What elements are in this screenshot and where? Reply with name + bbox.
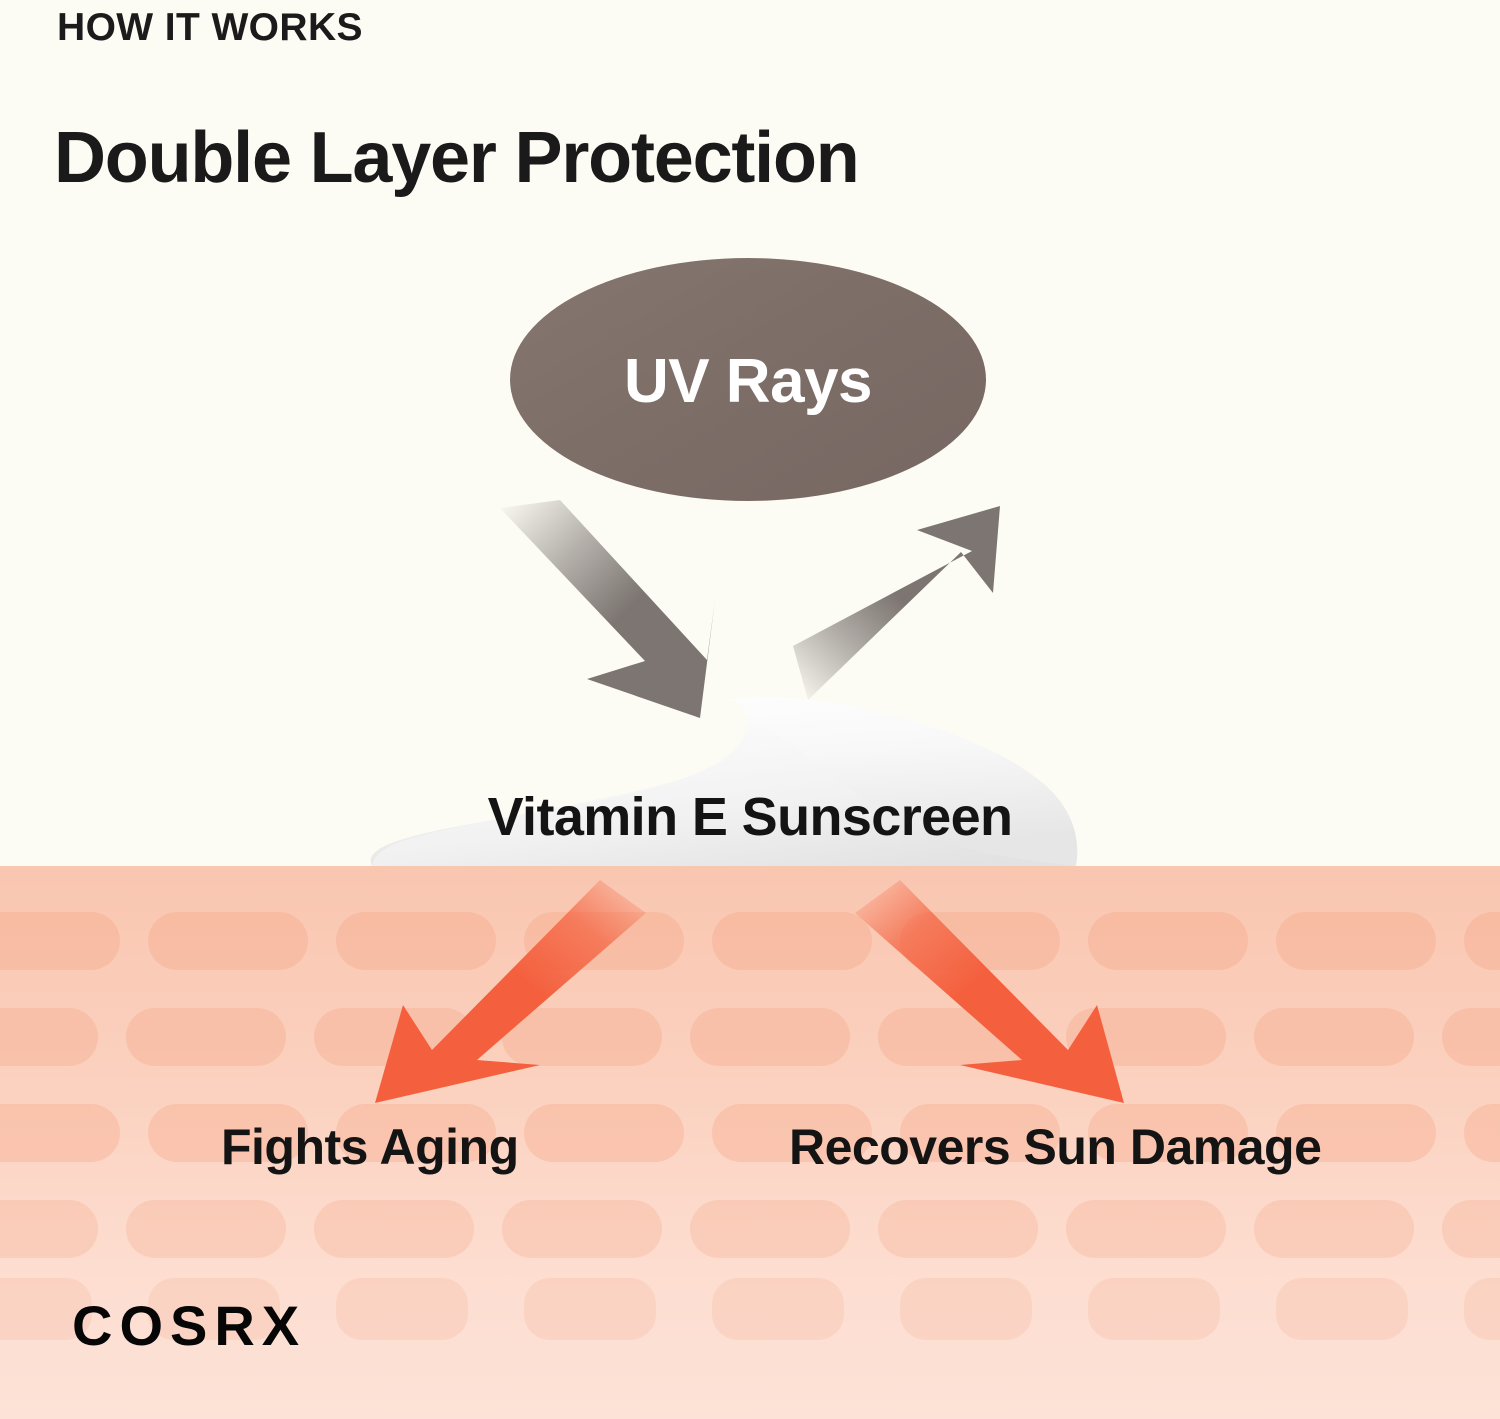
sunscreen-layer-label: Vitamin E Sunscreen: [0, 790, 1500, 844]
skin-cell: [0, 1104, 120, 1162]
skin-cell: [126, 1200, 286, 1258]
skin-cell: [878, 1008, 1038, 1066]
skin-cell: [1464, 1104, 1500, 1162]
skin-cell: [524, 1278, 656, 1340]
skin-cell: [126, 1008, 286, 1066]
eyebrow-label: HOW IT WORKS: [57, 8, 363, 49]
skin-cell: [900, 1278, 1032, 1340]
skin-cell: [314, 1008, 474, 1066]
skin-cell: [1254, 1008, 1414, 1066]
skin-cell: [0, 912, 120, 970]
skin-cell: [1088, 912, 1248, 970]
benefit-label-fights-aging: Fights Aging: [221, 1122, 519, 1172]
skin-cell: [314, 1200, 474, 1258]
skin-cell: [502, 1008, 662, 1066]
skin-cell: [690, 1200, 850, 1258]
brand-logo: COSRX: [72, 1298, 306, 1354]
skin-cell: [690, 1008, 850, 1066]
benefit-label-recovers-sun-damage: Recovers Sun Damage: [789, 1122, 1321, 1172]
skin-cell: [712, 1278, 844, 1340]
skin-cell: [1276, 1278, 1408, 1340]
skin-cell: [148, 912, 308, 970]
skin-cell: [1066, 1008, 1226, 1066]
skin-cell: [712, 912, 872, 970]
skin-cell: [1464, 1278, 1500, 1340]
skin-cell: [1442, 1008, 1500, 1066]
skin-cell: [0, 1008, 98, 1066]
skin-cell: [336, 1278, 468, 1340]
skin-cell: [1088, 1278, 1220, 1340]
skin-cell: [502, 1200, 662, 1258]
skin-cell: [1464, 912, 1500, 970]
skin-cell: [1254, 1200, 1414, 1258]
skin-cell: [900, 912, 1060, 970]
skin-cell: [1442, 1200, 1500, 1258]
page-title: Double Layer Protection: [54, 121, 859, 197]
uv-rays-ellipse: UV Rays: [510, 258, 986, 501]
infographic-root: HOW IT WORKS Double Layer Protection UV …: [0, 0, 1500, 1419]
skin-cell: [1276, 912, 1436, 970]
skin-cell: [336, 912, 496, 970]
skin-cell: [1066, 1200, 1226, 1258]
skin-cell: [524, 912, 684, 970]
skin-cell: [524, 1104, 684, 1162]
skin-cell: [0, 1200, 98, 1258]
skin-cell: [878, 1200, 1038, 1258]
uv-rays-label: UV Rays: [624, 351, 872, 413]
